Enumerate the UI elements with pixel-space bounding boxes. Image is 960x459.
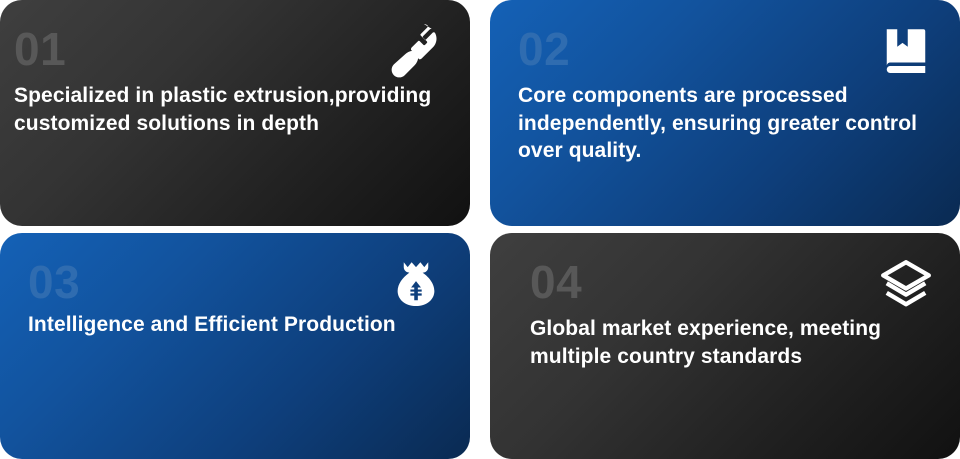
card-text-02: Core components are processed independen… [518, 82, 930, 165]
feature-card-02[interactable]: 02 Core components are processed indepen… [490, 0, 960, 226]
feature-card-01[interactable]: 01 Specialized in plastic extrusion,prov… [0, 0, 470, 226]
feature-card-03[interactable]: 03 Intelligence and Efficient Production [0, 233, 470, 459]
card-number-03: 03 [28, 259, 440, 305]
feature-cards-grid: 01 Specialized in plastic extrusion,prov… [0, 0, 960, 459]
card-number-02: 02 [518, 26, 930, 72]
card-text-01: Specialized in plastic extrusion,providi… [14, 82, 440, 137]
feature-card-04[interactable]: 04 Global market experience, meeting mul… [490, 233, 960, 459]
card-text-04: Global market experience, meeting multip… [530, 315, 930, 370]
card-number-04: 04 [530, 259, 930, 305]
card-text-03: Intelligence and Efficient Production [28, 311, 440, 339]
card-number-01: 01 [14, 26, 440, 72]
